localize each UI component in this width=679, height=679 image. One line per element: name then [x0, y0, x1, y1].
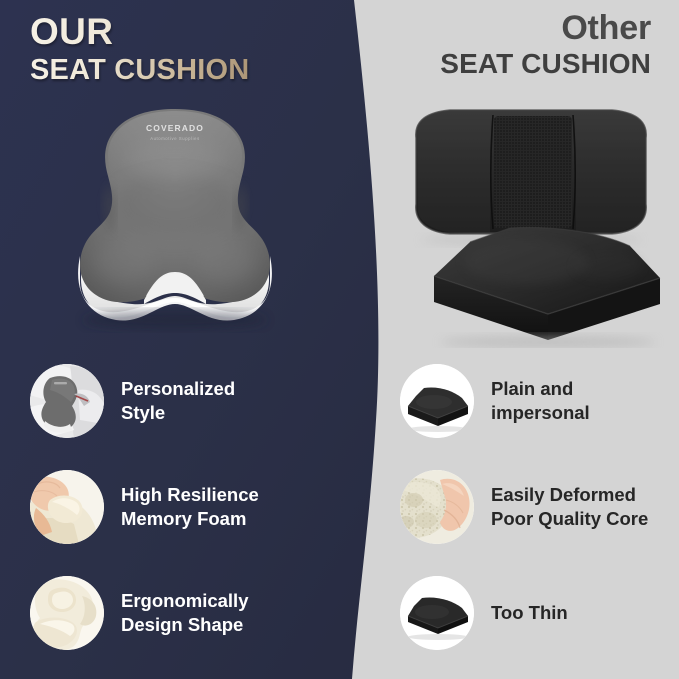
right-feature-2-text: Easily Deformed Poor Quality Core [491, 483, 648, 530]
left-feature-row-2: High Resilience Memory Foam [30, 470, 259, 544]
right-feature-3-line1: Too Thin [491, 601, 568, 625]
left-feature-row-1: Personalized Style [30, 364, 235, 438]
left-feature-1-line2: Style [121, 401, 235, 425]
left-heading-block: OUR SEAT CUSHION [30, 12, 249, 86]
left-feature-2-line1: High Resilience [121, 483, 259, 507]
right-feature-2-line1: Easily Deformed [491, 483, 648, 507]
right-feature-3-text: Too Thin [491, 601, 568, 625]
plain-black-cushion-thumb [400, 364, 474, 438]
left-feature-3-text: Ergonomically Design Shape [121, 589, 248, 636]
left-feature-3-line1: Ergonomically [121, 589, 248, 613]
right-heading-block: Other SEAT CUSHION [440, 10, 651, 80]
hero-brand-tagline: Automotive Supplies [150, 136, 200, 141]
left-feature-1-line1: Personalized [121, 377, 235, 401]
hand-pressing-memory-foam-thumb [30, 470, 104, 544]
right-feature-row-2: Easily Deformed Poor Quality Core [400, 470, 648, 544]
deformed-beige-foam-thumb [400, 470, 474, 544]
left-feature-3-line2: Design Shape [121, 613, 248, 637]
hero-brand-name: COVERADO [146, 123, 204, 133]
right-feature-row-1: Plain and impersonal [400, 364, 590, 438]
left-feature-1-text: Personalized Style [121, 377, 235, 424]
thin-black-cushion-thumb [400, 576, 474, 650]
left-feature-2-line2: Memory Foam [121, 507, 259, 531]
right-feature-2-line2: Poor Quality Core [491, 507, 648, 531]
left-heading-line1: OUR [30, 12, 249, 52]
right-feature-1-line2: impersonal [491, 401, 590, 425]
left-hero-product-image: COVERADO Automotive Supplies [46, 96, 304, 336]
right-feature-row-3: Too Thin [400, 576, 568, 650]
left-feature-2-text: High Resilience Memory Foam [121, 483, 259, 530]
left-feature-row-3: Ergonomically Design Shape [30, 576, 248, 650]
right-heading-line2: SEAT CUSHION [440, 48, 651, 80]
right-feature-1-text: Plain and impersonal [491, 377, 590, 424]
cushion-in-car-seat-thumb [30, 364, 104, 438]
right-heading-line1: Other [440, 10, 651, 47]
right-hero-product-image [398, 100, 666, 348]
ergonomic-foam-core-thumb [30, 576, 104, 650]
left-heading-line2: SEAT CUSHION [30, 54, 249, 86]
comparison-infographic: OUR SEAT CUSHION Other SEAT CUSHION [0, 0, 679, 679]
right-feature-1-line1: Plain and [491, 377, 590, 401]
